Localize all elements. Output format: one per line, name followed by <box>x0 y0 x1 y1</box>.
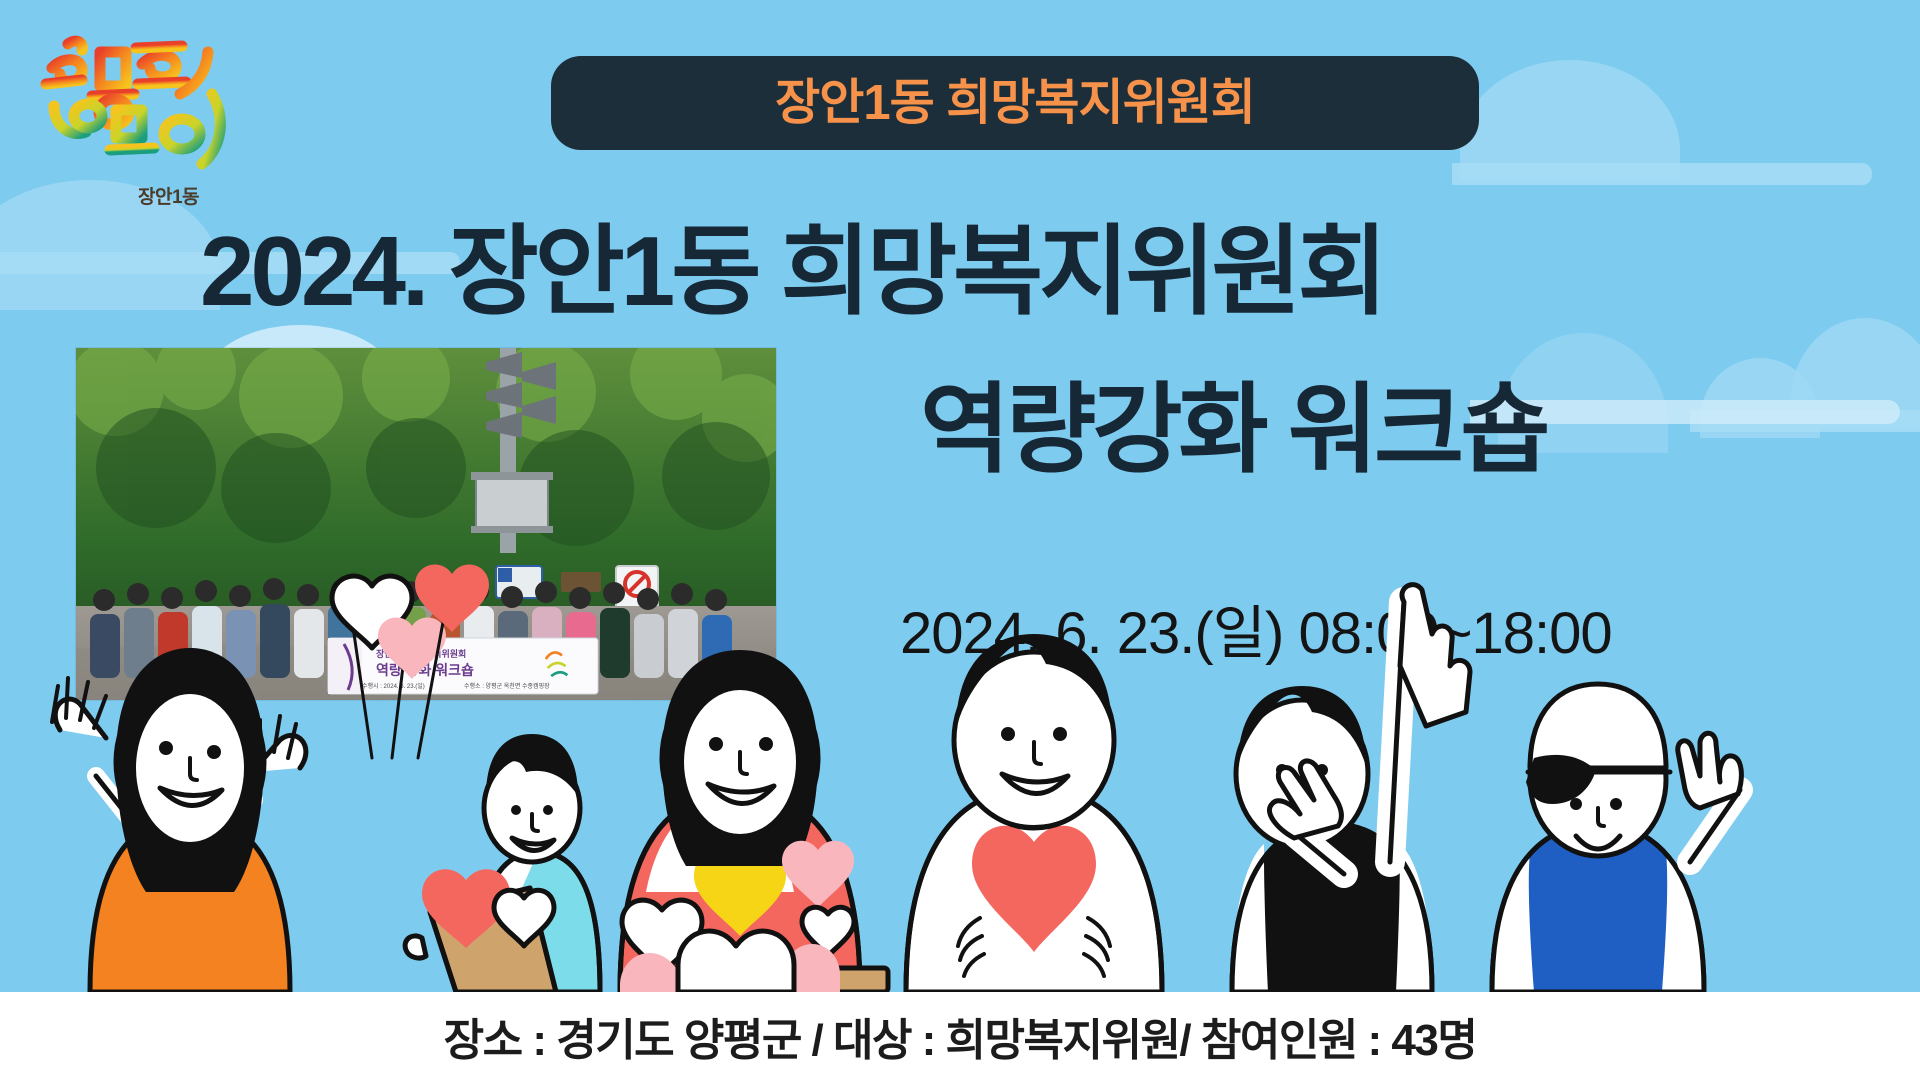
header-badge-label: 장안1동 희망복지위원회 <box>775 79 1255 128</box>
logo-subtitle: 장안1동 <box>138 182 199 209</box>
welfare-characters-illustration <box>0 562 1920 992</box>
page-title-line-1: 2024. 장안1동 희망복지위원회 <box>200 222 1384 320</box>
poster-root: 장안1동 장안1동 희망복지위원회 2024. 장안1동 희망복지위원회 역량강… <box>0 0 1920 1080</box>
header-badge: 장안1동 희망복지위원회 <box>551 56 1479 150</box>
hope-welfare-committee-logo: 장안1동 <box>30 22 280 202</box>
page-title-line-2: 역량강화 워크숍 <box>920 380 1546 478</box>
footer-info-text: 장소 : 경기도 양평군 / 대상 : 희망복지위원/ 참여인원 : 43명 <box>444 1004 1477 1068</box>
footer-info-bar: 장소 : 경기도 양평군 / 대상 : 희망복지위원/ 참여인원 : 43명 <box>0 992 1920 1080</box>
cloud-shape <box>1452 163 1872 185</box>
